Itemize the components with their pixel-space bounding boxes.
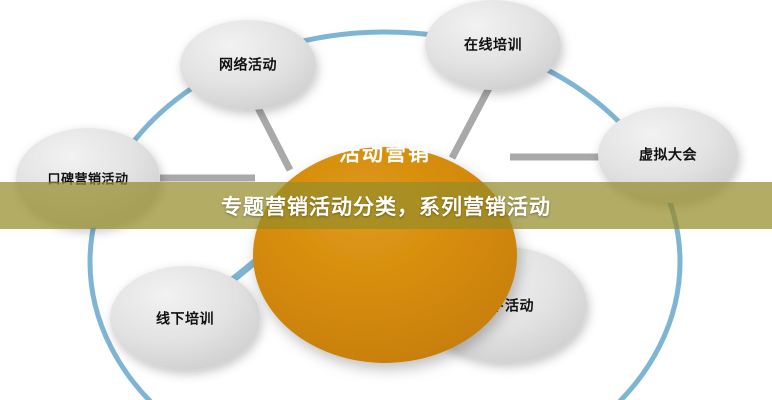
node-zaixian-peixun[interactable]: 在线培训: [425, 0, 561, 90]
node-wangluo-huodong-label: 网络活动: [219, 57, 277, 73]
diagram-canvas: 网络活动 在线培训 虚拟大会 口碑营销活动 线下培训 线下活动 活动营销: [0, 0, 772, 400]
node-xianxia-peixun-label: 线下培训: [156, 311, 214, 327]
caption-band: 专题营销活动分类，系列营销活动: [0, 182, 772, 229]
node-xuni-dahui-label: 虚拟大会: [639, 147, 697, 163]
spoke-to-zaixian-peixun: [452, 88, 489, 158]
node-xianxia-peixun[interactable]: 线下培训: [110, 266, 260, 370]
node-zaixian-peixun-label: 在线培训: [464, 37, 522, 53]
hub-node-shape[interactable]: [253, 147, 517, 363]
hub-node-label: 活动营销: [339, 142, 431, 166]
caption-text: 专题营销活动分类，系列营销活动: [221, 191, 551, 221]
node-wangluo-huodong[interactable]: 网络活动: [180, 20, 316, 110]
spoke-to-wangluo-huodong: [256, 104, 290, 170]
hub-node[interactable]: 活动营销: [253, 142, 517, 363]
